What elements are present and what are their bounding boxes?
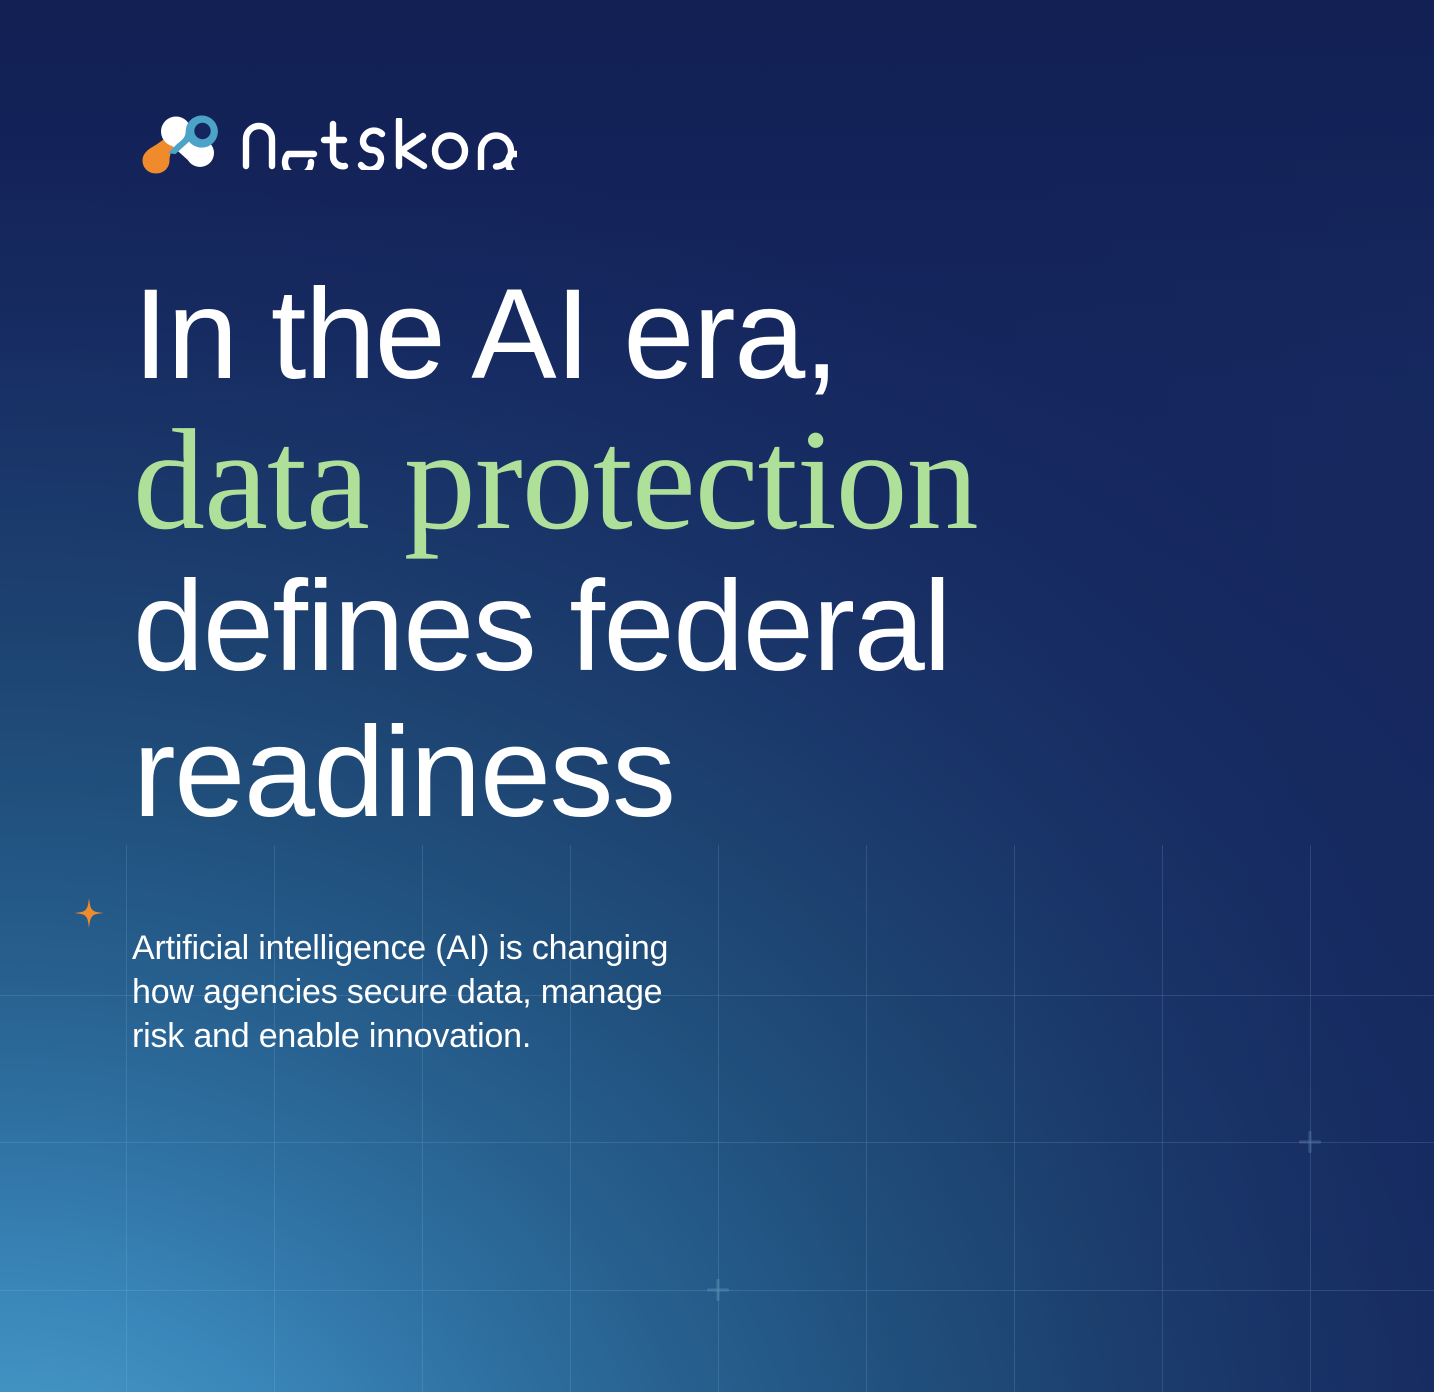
subcopy-line-3: risk and enable innovation. (132, 1014, 772, 1058)
page-headline: In the AI era, data protection defines f… (133, 262, 1233, 846)
grid-line-vertical (126, 845, 127, 1392)
headline-line-2-accent: data protection (133, 408, 1233, 554)
netskope-wordmark-icon (241, 118, 517, 170)
netskope-molecule-mark-icon (131, 113, 235, 175)
cover-page: In the AI era, data protection defines f… (0, 0, 1434, 1392)
headline-line-4: readiness (133, 700, 1233, 846)
subcopy-text: Artificial intelligence (AI) is changing… (132, 926, 772, 1058)
grid-plus-marker-icon (1299, 1131, 1321, 1153)
grid-line-vertical (1162, 845, 1163, 1392)
grid-line-vertical (866, 845, 867, 1392)
netskope-logo (131, 113, 517, 175)
headline-line-1: In the AI era, (133, 262, 1233, 408)
grid-plus-marker-icon (707, 1279, 729, 1301)
subcopy-line-2: how agencies secure data, manage (132, 970, 772, 1014)
grid-line-horizontal (0, 1142, 1434, 1143)
plus-marker-icon (74, 898, 104, 928)
grid-line-vertical (1014, 845, 1015, 1392)
grid-line-vertical (1310, 845, 1311, 1392)
headline-line-3: defines federal (133, 554, 1233, 700)
subcopy-line-1: Artificial intelligence (AI) is changing (132, 926, 772, 970)
